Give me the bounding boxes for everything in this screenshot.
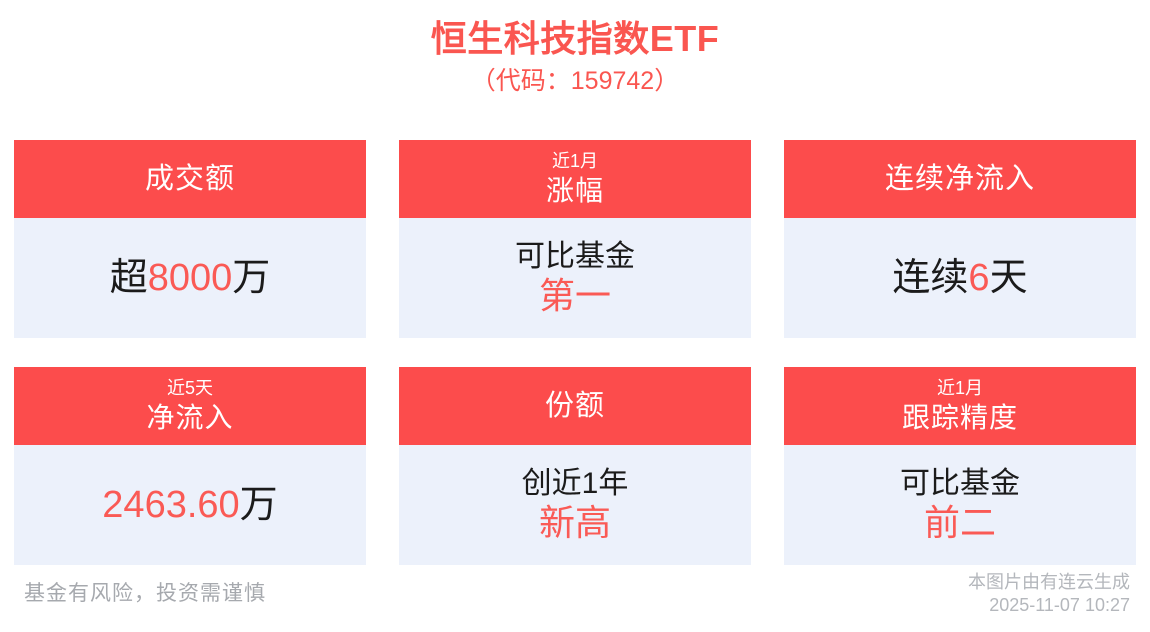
- card-body: 超8000万: [14, 218, 366, 338]
- risk-disclaimer: 基金有风险，投资需谨慎: [24, 580, 266, 608]
- card-value: 超8000万: [110, 255, 271, 301]
- value-suffix: 天: [990, 257, 1028, 299]
- card-eyebrow: 近5天: [167, 377, 213, 400]
- card-eyebrow: 近1月: [552, 150, 598, 173]
- generated-timestamp: 2025-11-07 10:27: [968, 594, 1130, 617]
- page-title: 恒生科技指数ETF: [0, 16, 1150, 62]
- card-header: 近5天 净流入: [14, 367, 366, 445]
- value-bottom: 前二: [924, 501, 996, 545]
- value-highlight: 6: [968, 257, 989, 299]
- footer-attribution: 本图片由有连云生成 2025-11-07 10:27: [968, 571, 1130, 617]
- card-body: 创近1年 新高: [399, 445, 751, 565]
- footer: 基金有风险，投资需谨慎 本图片由有连云生成 2025-11-07 10:27: [0, 566, 1150, 632]
- card-header: 成交额: [14, 140, 366, 218]
- card-header: 份额: [399, 367, 751, 445]
- stat-card-net-inflow-5d: 近5天 净流入 2463.60万: [14, 367, 366, 565]
- value-highlight: 8000: [148, 257, 233, 299]
- stat-card-tracking-accuracy: 近1月 跟踪精度 可比基金 前二: [784, 367, 1136, 565]
- card-title: 跟踪精度: [902, 400, 1018, 436]
- stat-card-shares: 份额 创近1年 新高: [399, 367, 751, 565]
- card-body: 2463.60万: [14, 445, 366, 565]
- card-title: 成交额: [145, 161, 235, 197]
- card-eyebrow: 近1月: [937, 377, 983, 400]
- source-label: 本图片由有连云生成: [968, 571, 1130, 594]
- card-title: 份额: [545, 388, 605, 424]
- value-suffix: 万: [232, 257, 270, 299]
- card-header: 近1月 跟踪精度: [784, 367, 1136, 445]
- card-title: 净流入: [146, 400, 233, 436]
- card-value: 2463.60万: [102, 482, 277, 528]
- card-body: 可比基金 第一: [399, 218, 751, 338]
- value-top: 创近1年: [522, 465, 629, 503]
- card-title: 涨幅: [546, 173, 604, 209]
- card-body: 连续6天: [784, 218, 1136, 338]
- stat-card-turnover: 成交额 超8000万: [14, 140, 366, 338]
- value-top: 可比基金: [900, 465, 1020, 503]
- value-prefix: 连续: [892, 257, 968, 299]
- value-bottom: 第一: [539, 274, 611, 318]
- card-body: 可比基金 前二: [784, 445, 1136, 565]
- value-suffix: 万: [240, 484, 278, 526]
- card-header: 近1月 涨幅: [399, 140, 751, 218]
- value-top: 可比基金: [515, 238, 635, 276]
- value-prefix: 超: [110, 257, 148, 299]
- card-value: 连续6天: [892, 255, 1027, 301]
- stat-card-consecutive-inflow: 连续净流入 连续6天: [784, 140, 1136, 338]
- page-header: 恒生科技指数ETF （代码：159742）: [0, 0, 1150, 98]
- stat-card-monthly-gain: 近1月 涨幅 可比基金 第一: [399, 140, 751, 338]
- stat-card-grid: 成交额 超8000万 近1月 涨幅 可比基金 第一 连续净流入 连续6天: [14, 140, 1136, 565]
- value-highlight: 2463.60: [102, 484, 239, 526]
- card-title: 连续净流入: [885, 161, 1035, 197]
- fund-code-subtitle: （代码：159742）: [0, 64, 1150, 98]
- value-bottom: 新高: [539, 501, 611, 545]
- card-header: 连续净流入: [784, 140, 1136, 218]
